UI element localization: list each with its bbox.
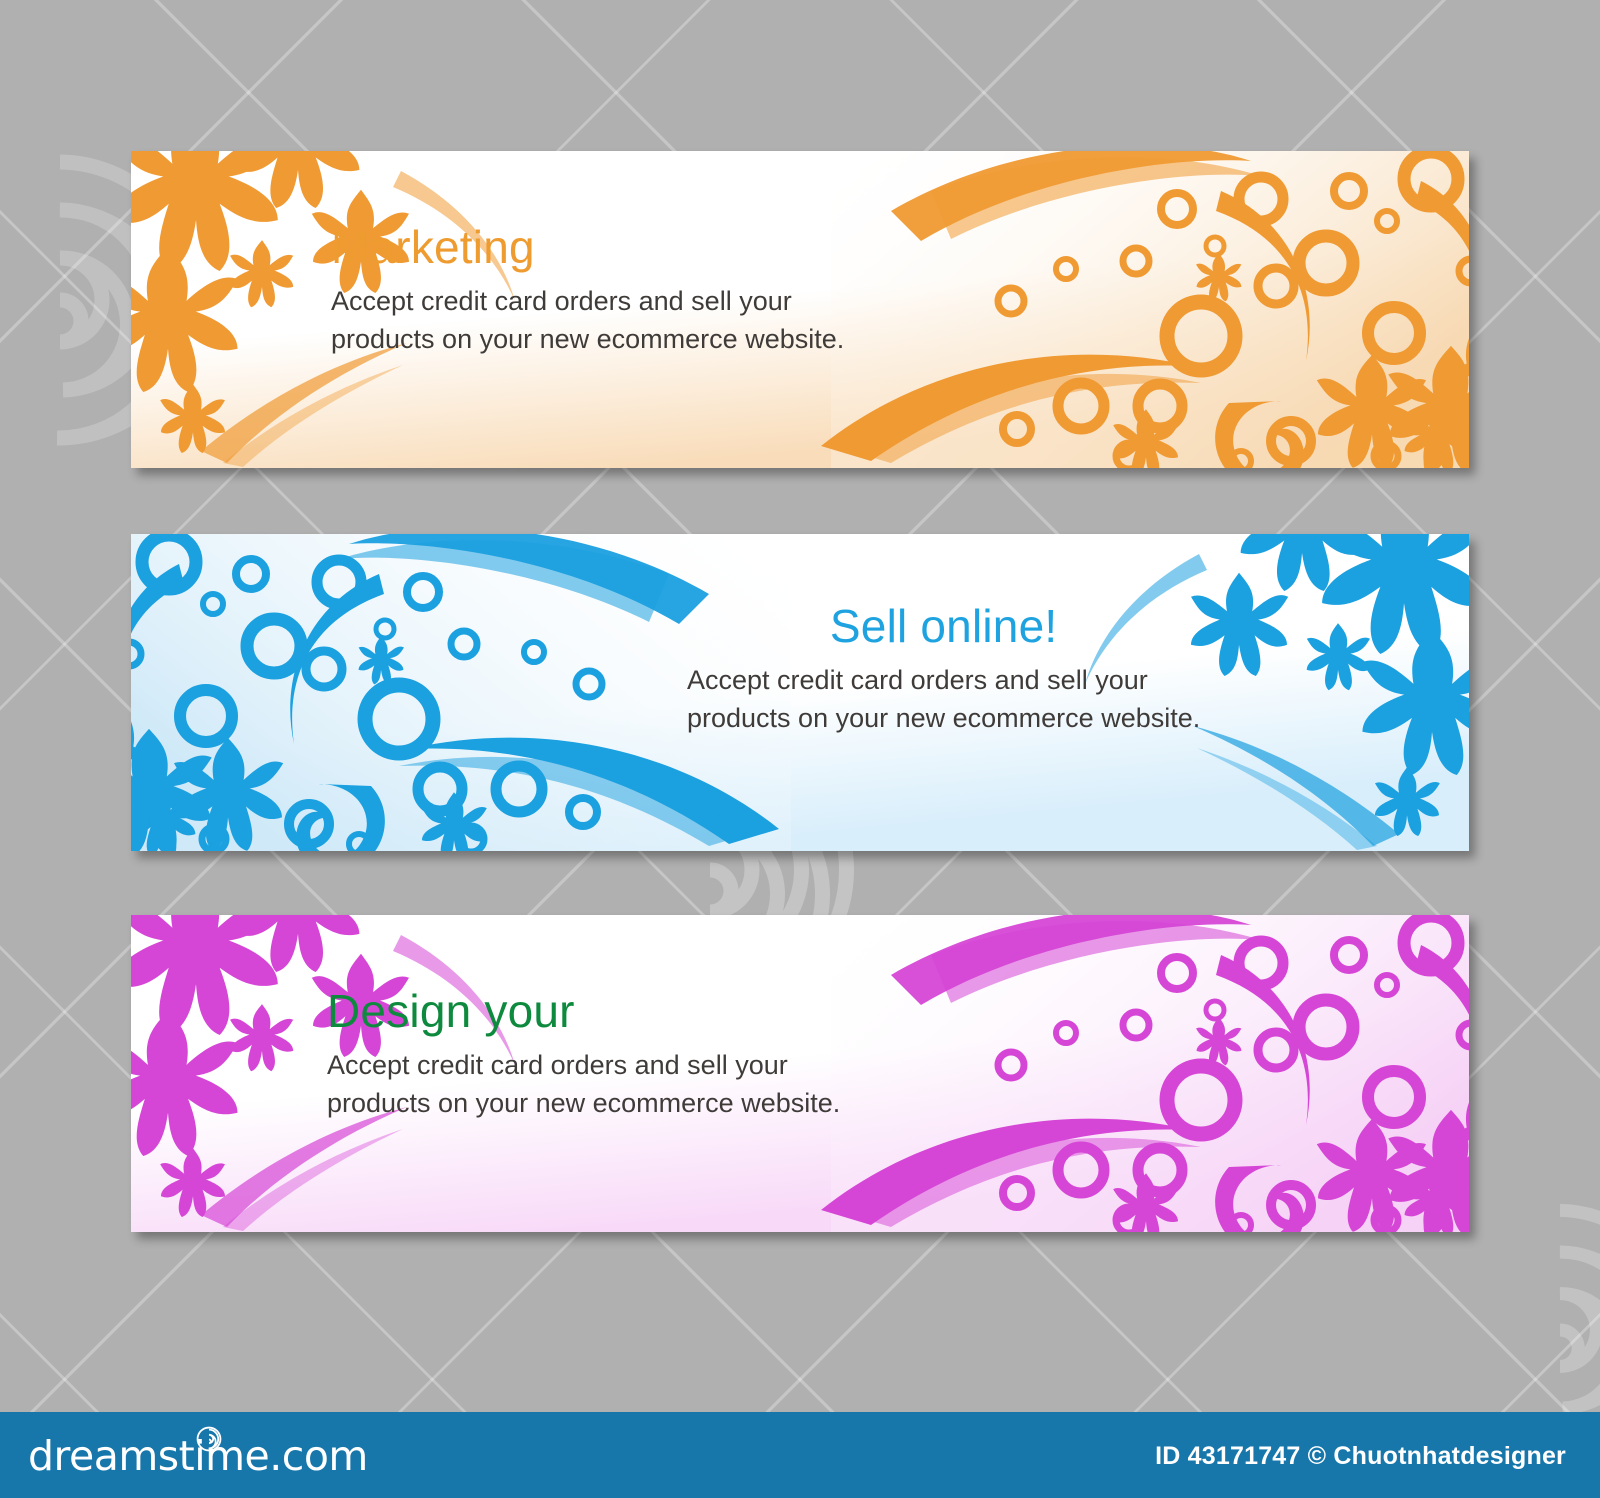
dreamstime-footer-bar: dreamstime.com ID 43171747 © Chuotnhatde…	[0, 1412, 1600, 1498]
banner-text-block: Sell online! Accept credit card orders a…	[687, 602, 1200, 737]
image-canvas: Marketing Accept credit card orders and …	[0, 0, 1600, 1498]
image-credit: ID 43171747 © Chuotnhatdesigner	[1155, 1442, 1566, 1471]
banner-body-text: Accept credit card orders and sell your …	[331, 283, 844, 358]
banner-text-block: Design your Accept credit card orders an…	[327, 987, 840, 1122]
banner-headline: Design your	[327, 987, 840, 1035]
dreamstime-logo[interactable]: dreamstime.com	[28, 1430, 368, 1482]
banner-body-text: Accept credit card orders and sell your …	[327, 1047, 840, 1122]
banner-text-block: Marketing Accept credit card orders and …	[331, 223, 844, 358]
banner-body-text: Accept credit card orders and sell your …	[687, 662, 1200, 737]
banner-sell-online[interactable]: Sell online! Accept credit card orders a…	[131, 534, 1469, 851]
banner-headline: Marketing	[331, 223, 844, 271]
banner-design-your[interactable]: Design your Accept credit card orders an…	[131, 915, 1469, 1232]
banner-marketing[interactable]: Marketing Accept credit card orders and …	[131, 151, 1469, 468]
spiral-icon	[196, 1426, 222, 1452]
banner-headline: Sell online!	[687, 602, 1200, 650]
